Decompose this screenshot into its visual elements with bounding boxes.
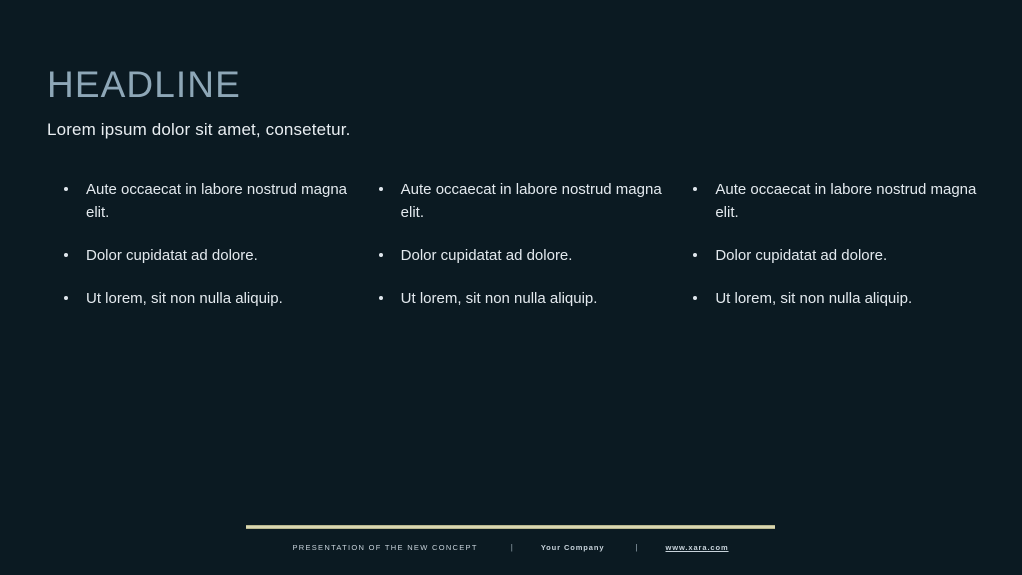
footer-presentation-title: PRESENTATION OF THE NEW CONCEPT xyxy=(292,543,477,552)
list-item-label: Aute occaecat in labore nostrud magna el… xyxy=(715,181,976,221)
list-item-label: Dolor cupidatat ad dolore. xyxy=(86,247,258,264)
bullet-list: Aute occaecat in labore nostrud magna el… xyxy=(61,178,362,310)
list-item: Dolor cupidatat ad dolore. xyxy=(376,244,677,267)
bullet-columns: Aute occaecat in labore nostrud magna el… xyxy=(47,178,991,310)
slide-canvas: HEADLINE Lorem ipsum dolor sit amet, con… xyxy=(0,0,1022,575)
bullet-dot-icon xyxy=(64,296,68,300)
list-item: Aute occaecat in labore nostrud magna el… xyxy=(61,178,362,224)
bullet-dot-icon xyxy=(379,187,383,191)
bullet-column-3: Aute occaecat in labore nostrud magna el… xyxy=(676,178,991,310)
list-item-label: Dolor cupidatat ad dolore. xyxy=(401,247,573,264)
bullet-column-1: Aute occaecat in labore nostrud magna el… xyxy=(47,178,362,310)
bullet-dot-icon xyxy=(64,253,68,257)
list-item: Aute occaecat in labore nostrud magna el… xyxy=(376,178,677,224)
page-subtitle: Lorem ipsum dolor sit amet, consetetur. xyxy=(47,120,350,140)
list-item-label: Dolor cupidatat ad dolore. xyxy=(715,247,887,264)
list-item: Dolor cupidatat ad dolore. xyxy=(690,244,991,267)
bullet-dot-icon xyxy=(693,187,697,191)
footer-separator-1: | xyxy=(511,543,513,552)
bullet-column-2: Aute occaecat in labore nostrud magna el… xyxy=(362,178,677,310)
list-item-label: Ut lorem, sit non nulla aliquip. xyxy=(401,290,598,307)
list-item: Dolor cupidatat ad dolore. xyxy=(61,244,362,267)
list-item: Aute occaecat in labore nostrud magna el… xyxy=(690,178,991,224)
page-title: HEADLINE xyxy=(47,66,241,105)
bullet-dot-icon xyxy=(379,296,383,300)
list-item: Ut lorem, sit non nulla aliquip. xyxy=(690,287,991,310)
list-item: Ut lorem, sit non nulla aliquip. xyxy=(61,287,362,310)
bullet-dot-icon xyxy=(693,296,697,300)
footer-separator-2: | xyxy=(635,543,637,552)
list-item-label: Aute occaecat in labore nostrud magna el… xyxy=(86,181,347,221)
list-item-label: Aute occaecat in labore nostrud magna el… xyxy=(401,181,662,221)
footer-website-link[interactable]: www.xara.com xyxy=(666,543,729,552)
bullet-dot-icon xyxy=(379,253,383,257)
footer-company-name: Your Company xyxy=(541,543,605,552)
bullet-dot-icon xyxy=(64,187,68,191)
list-item-label: Ut lorem, sit non nulla aliquip. xyxy=(715,290,912,307)
list-item: Ut lorem, sit non nulla aliquip. xyxy=(376,287,677,310)
footer: PRESENTATION OF THE NEW CONCEPT | Your C… xyxy=(246,543,775,552)
list-item-label: Ut lorem, sit non nulla aliquip. xyxy=(86,290,283,307)
bullet-list: Aute occaecat in labore nostrud magna el… xyxy=(376,178,677,310)
footer-divider xyxy=(246,525,775,529)
bullet-list: Aute occaecat in labore nostrud magna el… xyxy=(690,178,991,310)
decorative-line-group xyxy=(842,0,1022,150)
bullet-dot-icon xyxy=(693,253,697,257)
